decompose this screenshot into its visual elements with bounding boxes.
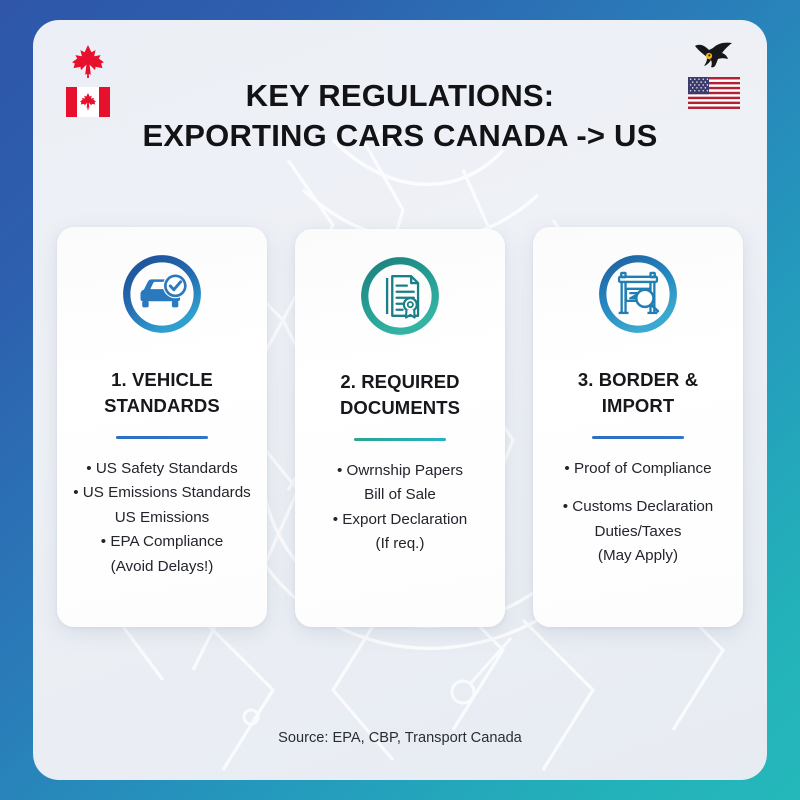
card-line: • US Safety Standards [73,457,251,482]
card-divider [354,438,446,441]
card-line: • Owrnship Papers [333,459,467,484]
card-line: (May Apply) [563,544,714,569]
footer-source: Source: EPA, CBP, Transport Canada [33,730,767,746]
cards-row: 1. VEHICLE STANDARDS • US Safety Standar… [57,227,743,627]
card-line: • Proof of Compliance [563,457,714,482]
card-line: (Avoid Delays!) [73,555,251,580]
card-divider [116,436,208,439]
card-body: • Owrnship Papers Bill of Sale • Export … [331,459,469,558]
card-line: • US Emissions Standards [73,481,251,506]
card-line: Duties/Taxes [563,520,714,545]
card-heading: 2. REQUIRED DOCUMENTS [338,369,462,422]
title-line-1: KEY REGULATIONS: [133,76,667,116]
card-vehicle-standards[interactable]: 1. VEHICLE STANDARDS • US Safety Standar… [57,227,267,627]
card-heading-line-1: 3. BORDER & [578,367,698,393]
card-heading-line-2: DOCUMENTS [340,395,460,421]
card-heading-line-1: 1. VEHICLE [104,367,220,393]
card-divider [592,436,684,439]
card-required-documents[interactable]: 2. REQUIRED DOCUMENTS • Owrnship Papers … [295,229,505,627]
card-line-spacer [563,481,714,495]
car-check-icon [119,251,205,337]
title-line-2: EXPORTING CARS CANADA -> US [133,116,667,156]
card-line: • Customs Declaration [563,495,714,520]
card-line: US Emissions [73,506,251,531]
infographic-frame: KEY REGULATIONS: EXPORTING CARS CANADA -… [0,0,800,800]
card-heading: 1. VEHICLE STANDARDS [102,367,222,420]
page-title: KEY REGULATIONS: EXPORTING CARS CANADA -… [33,76,767,157]
card-body: • US Safety Standards • US Emissions Sta… [71,457,253,580]
card-line: Bill of Sale [333,483,467,508]
card-line: • EPA Compliance [73,530,251,555]
card-heading-line-2: IMPORT [578,393,698,419]
document-certificate-icon [357,253,443,339]
card-line: (If req.) [333,532,467,557]
card-line: • Export Declaration [333,508,467,533]
card-heading-line-2: STANDARDS [104,393,220,419]
border-gate-inspection-icon [595,251,681,337]
card-heading: 3. BORDER & IMPORT [576,367,700,420]
card-border-import[interactable]: 3. BORDER & IMPORT • Proof of Compliance… [533,227,743,627]
bald-eagle-icon [691,38,737,72]
card-body: • Proof of Compliance • Customs Declarat… [561,457,716,570]
card-heading-line-1: 2. REQUIRED [340,369,460,395]
inner-panel: KEY REGULATIONS: EXPORTING CARS CANADA -… [33,20,767,780]
